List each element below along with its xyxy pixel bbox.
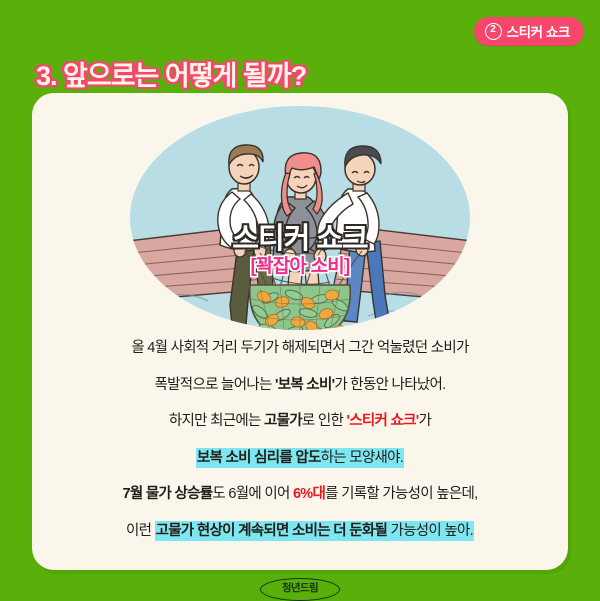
line3-text-a: 하지만 최근에는: [169, 413, 264, 429]
line3-highlight-red: '스티커 쇼크': [346, 413, 418, 429]
illustration: 스티커 쇼크 [꽉잡아 소비]: [32, 93, 568, 338]
line5-highlight-red: 6%대: [293, 486, 325, 502]
line5-emphasis: 7월 물가 상승률: [123, 486, 213, 502]
section-badge: 2 스티커 쇼크: [474, 17, 584, 46]
body-line-3: 하지만 최근에는 고물가로 인한 '스티커 쇼크'가: [32, 414, 568, 429]
line4-emphasis: 보복 소비 심리를 압도: [197, 450, 321, 466]
illustration-net-subtitle: [꽉잡아 소비]: [32, 251, 568, 278]
page-title: 3. 앞으로는 어떻게 될까?: [36, 54, 306, 93]
footer-logo: 청년드림: [260, 578, 340, 601]
line5-text-b: 를 기록할 가능성이 높은데,: [325, 486, 477, 502]
body-line-2: 폭발적으로 늘어나는 '보복 소비'가 한동안 나타났어.: [32, 378, 568, 393]
line5-text-a: 도 6월에 이어: [212, 486, 293, 502]
content-card: 스티커 쇼크 [꽉잡아 소비] 올 4월 사회적 거리 두기가 해제되면서 그간…: [32, 93, 568, 570]
badge-number-icon: 2: [485, 23, 502, 40]
body-line-5: 7월 물가 상승률도 6월에 이어 6%대를 기록할 가능성이 높은데,: [32, 487, 568, 502]
body-copy: 올 4월 사회적 거리 두기가 해제되면서 그간 억눌렸던 소비가 폭발적으로 …: [32, 341, 568, 538]
infographic-card-page: 2 스티커 쇼크 3. 앞으로는 어떻게 될까?: [0, 0, 600, 600]
line6-highlight: 고물가 현상이 계속되면 소비는 더 둔화될 가능성이 높아.: [155, 521, 474, 541]
line4-highlight: 보복 소비 심리를 압도하는 모양새야.: [196, 448, 404, 468]
line3-text-b: 로 인한: [302, 413, 347, 429]
body-line-1: 올 4월 사회적 거리 두기가 해제되면서 그간 억눌렸던 소비가: [32, 341, 568, 356]
body-line-4: 보복 소비 심리를 압도하는 모양새야.: [32, 451, 568, 466]
badge-label: 스티커 쇼크: [507, 21, 570, 41]
line2-text-a: 폭발적으로 늘어나는: [155, 377, 275, 393]
line6-text-a: 이런: [126, 523, 155, 539]
line2-emphasis: '보복 소비': [275, 377, 334, 393]
fish-net: [248, 285, 350, 338]
line1-text: 올 4월 사회적 거리 두기가 해제되면서 그간 억눌렸던 소비가: [131, 340, 468, 356]
line3-text-c: 가: [419, 413, 432, 429]
line2-text-b: 가 한동안 나타났어.: [334, 377, 445, 393]
line6-emphasis: 고물가 현상이 계속되면 소비는 더 둔화될: [156, 523, 388, 539]
body-line-6: 이런 고물가 현상이 계속되면 소비는 더 둔화될 가능성이 높아.: [32, 524, 568, 539]
line4-text: 하는 모양새야.: [321, 450, 404, 466]
line6-text-b: 가능성이 높아.: [387, 523, 473, 539]
line3-emphasis: 고물가: [264, 413, 302, 429]
